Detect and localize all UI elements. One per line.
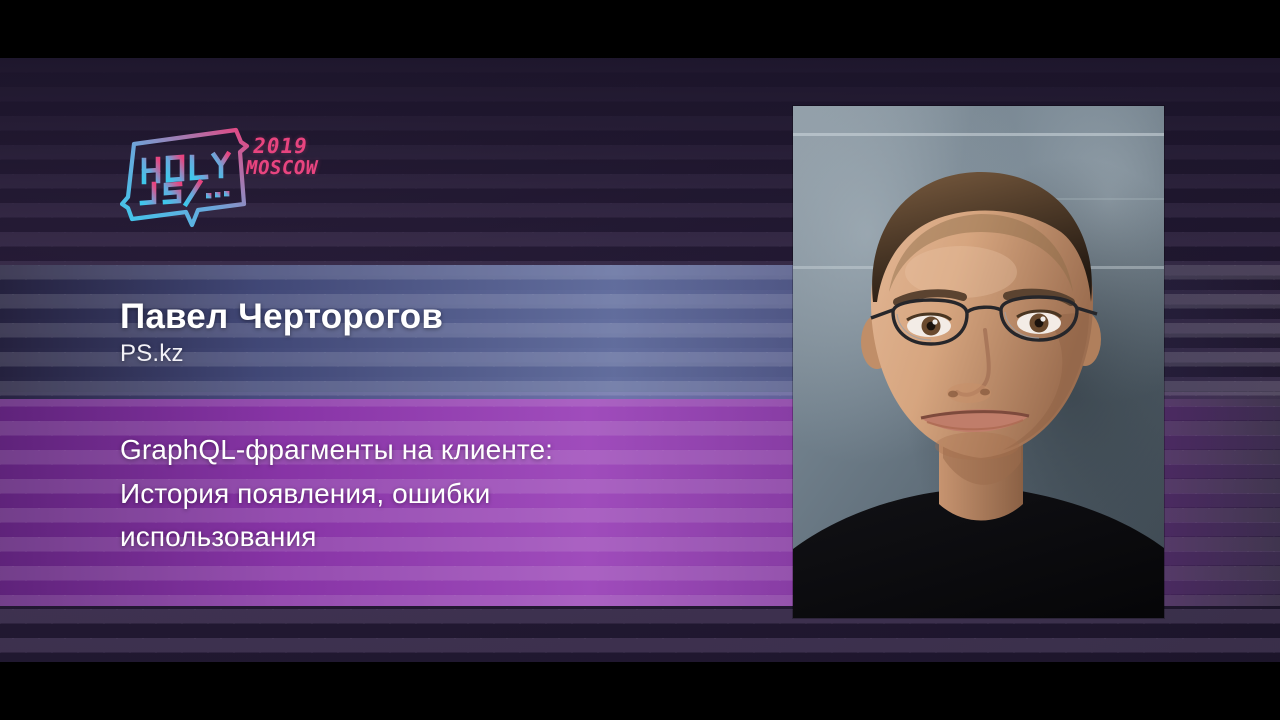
talk-title-line: История появления, ошибки bbox=[120, 472, 720, 516]
talk-title: GraphQL-фрагменты на клиенте: История по… bbox=[120, 428, 720, 559]
speaker-portrait-illustration bbox=[793, 106, 1164, 618]
logo-city-label: MOSCOW bbox=[244, 157, 319, 179]
logo-year-label: 2019 bbox=[251, 136, 309, 157]
holyjs-logo: 2019 MOSCOW bbox=[120, 124, 360, 234]
speaker-info: Павел Черторогов PS.kz bbox=[120, 296, 443, 368]
slide-canvas: 2019 MOSCOW Павел Черторогов PS.kz Graph… bbox=[0, 58, 1280, 662]
slide-stage: 2019 MOSCOW Павел Черторогов PS.kz Graph… bbox=[0, 0, 1280, 720]
speaker-photo bbox=[793, 106, 1164, 618]
speaker-organization: PS.kz bbox=[120, 340, 443, 368]
letterbox-bar-bottom bbox=[0, 662, 1280, 720]
speaker-name: Павел Черторогов bbox=[120, 296, 443, 337]
holyjs-logo-mark bbox=[120, 124, 250, 232]
talk-title-line: GraphQL-фрагменты на клиенте: bbox=[120, 428, 720, 472]
talk-title-line: использования bbox=[120, 515, 720, 559]
letterbox-bar-top bbox=[0, 0, 1280, 58]
